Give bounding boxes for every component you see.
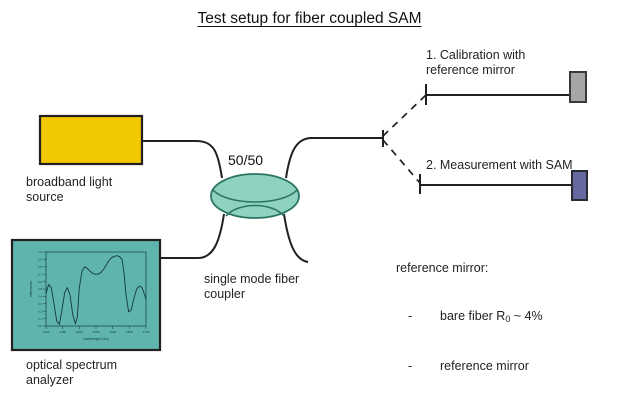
svg-text:0.7: 0.7 <box>38 272 42 276</box>
calibration-branch-label: 1. Calibration with reference mirror <box>426 48 525 79</box>
osa-ylabel: reflectance <box>29 281 33 298</box>
broadband-light-source-box <box>40 116 142 164</box>
single-mode-fiber-coupler-label: single mode fiber coupler <box>204 272 299 303</box>
svg-text:1600: 1600 <box>109 330 116 334</box>
dashed-branch-line-measurement <box>383 140 420 183</box>
notes-heading: reference mirror: <box>396 261 543 276</box>
bullet-marker-0: - <box>396 309 440 324</box>
svg-text:0.4: 0.4 <box>38 295 42 299</box>
svg-text:0.1: 0.1 <box>38 317 42 321</box>
optical-spectrum-analyzer-box <box>12 240 160 350</box>
svg-text:1500: 1500 <box>76 330 83 334</box>
diagram-canvas: 1400 1450 1500 1550 1600 1650 1700 1.0 0… <box>0 0 619 400</box>
notes-item-0: -bare fiber R0 ~ 4% <box>396 309 543 325</box>
measurement-branch-label: 2. Measurement with SAM <box>426 158 573 173</box>
bullet-marker-1: - <box>396 359 440 374</box>
notes-item-1: -reference mirror <box>396 359 543 374</box>
svg-text:0.8: 0.8 <box>38 265 42 269</box>
notes-item-0-text: bare fiber R0 ~ 4% <box>440 309 543 323</box>
coupler-ratio-label: 50/50 <box>228 152 263 169</box>
svg-text:1650: 1650 <box>126 330 133 334</box>
optical-spectrum-analyzer-label: optical spectrum analyzer <box>26 358 117 389</box>
svg-text:1400: 1400 <box>43 330 50 334</box>
fiber-coupler-ellipse <box>211 174 299 218</box>
svg-text:1700: 1700 <box>143 330 150 334</box>
svg-text:1450: 1450 <box>59 330 66 334</box>
broadband-light-source-label: broadband light source <box>26 175 112 206</box>
fiber-source-to-coupler <box>142 141 222 178</box>
page-title: Test setup for fiber coupled SAM <box>0 10 619 29</box>
svg-text:0.3: 0.3 <box>38 302 42 306</box>
svg-text:0.5: 0.5 <box>38 287 42 291</box>
svg-text:0.6: 0.6 <box>38 280 42 284</box>
svg-text:0.0: 0.0 <box>38 324 42 328</box>
fiber-coupler-to-osa <box>160 214 224 258</box>
svg-text:0.9: 0.9 <box>38 258 42 262</box>
svg-text:1550: 1550 <box>93 330 100 334</box>
sam-sample-block <box>572 171 587 200</box>
fiber-coupler-to-junction <box>286 138 383 178</box>
notes-item-1-text: reference mirror <box>440 359 529 373</box>
reference-mirror-notes: reference mirror: -bare fiber R0 ~ 4% -r… <box>396 230 543 400</box>
measurement-arm <box>420 171 587 200</box>
page-title-text: Test setup for fiber coupled SAM <box>197 10 421 27</box>
reference-mirror-block <box>570 72 586 102</box>
svg-text:1.0: 1.0 <box>38 250 42 254</box>
svg-text:0.2: 0.2 <box>38 309 42 313</box>
osa-xlabel: wavelength (nm) <box>83 337 108 341</box>
fiber-coupler-free-end <box>284 214 308 262</box>
dashed-branch-line-calibration <box>383 95 426 136</box>
